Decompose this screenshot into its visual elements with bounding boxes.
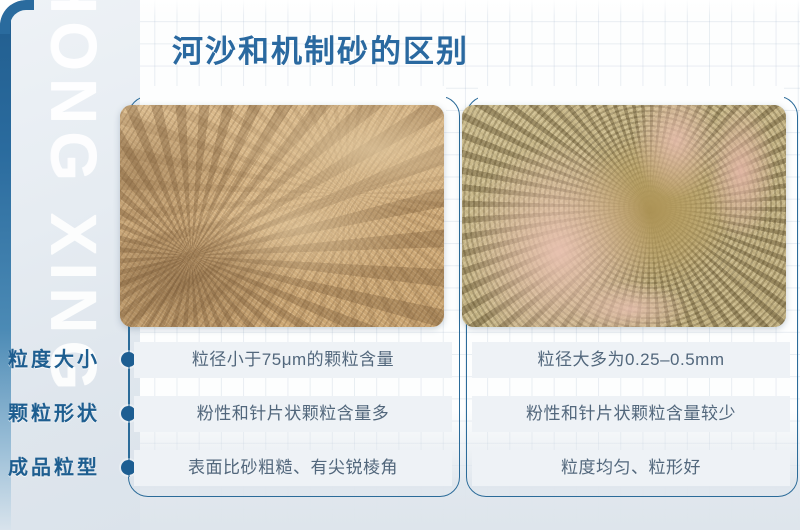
- page-title: 河沙和机制砂的区别: [172, 26, 469, 71]
- row-1-river-value: 粒径小于75μm的颗粒含量: [134, 342, 452, 378]
- label-rail: [128, 327, 130, 477]
- manufactured-sand-texture: [462, 105, 786, 327]
- row-2-msand-value: 粉性和针片状颗粒含量较少: [472, 396, 790, 432]
- row-label-particle-shape: 颗粒形状: [8, 397, 126, 426]
- row-3-river-value: 表面比砂粗糙、有尖锐棱角: [134, 450, 452, 486]
- row-1-msand-value: 粒径大多为0.25–0.5mm: [472, 342, 790, 378]
- row-3-msand-value: 粒度均匀、粒形好: [472, 450, 790, 486]
- row-label-grain-size: 粒度大小: [8, 343, 126, 372]
- photo-river-sand: [120, 105, 444, 327]
- river-sand-texture: [120, 105, 444, 327]
- brand-watermark-text: HONG XING: [37, 0, 111, 398]
- photo-manufactured-sand: [462, 105, 786, 327]
- infographic-canvas: HONG XING 河沙和机制砂的区别 粒度大小 粒径小于75μm的颗粒含量 粒…: [0, 0, 800, 530]
- row-2-river-value: 粉性和针片状颗粒含量多: [134, 396, 452, 432]
- row-label-product-grain-type: 成品粒型: [8, 451, 126, 480]
